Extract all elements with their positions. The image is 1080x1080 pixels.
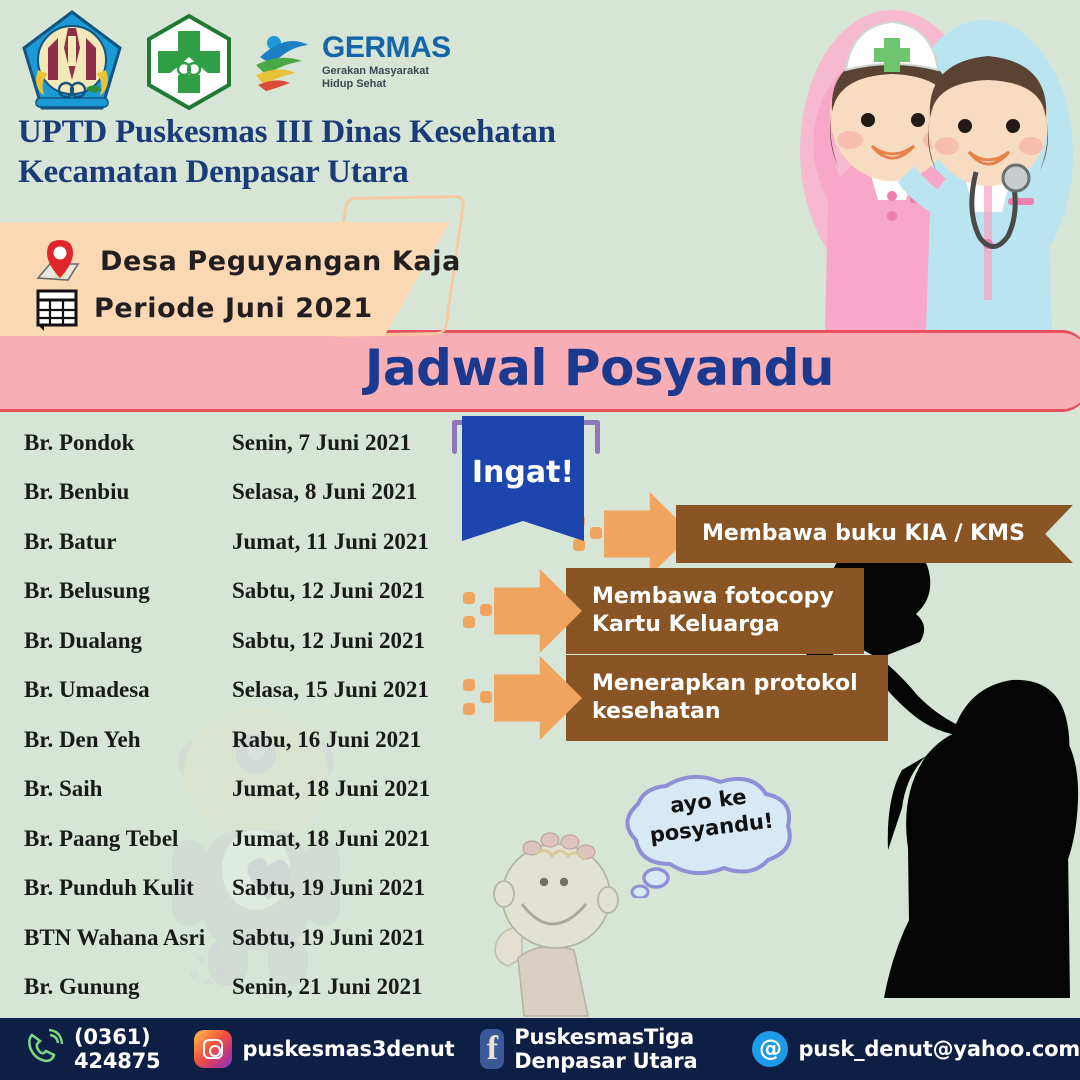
schedule-row: BTN Wahana Asri Sabtu, 19 Juni 2021 <box>0 913 450 963</box>
schedule-place: Br. Benbiu <box>0 479 232 505</box>
schedule-place: Br. Batur <box>0 529 232 555</box>
phone-contact[interactable]: (0361) 424875 <box>24 1025 160 1073</box>
schedule-place: Br. Belusung <box>0 578 232 604</box>
schedule-date: Sabtu, 19 Juni 2021 <box>232 875 425 901</box>
schedule-row: Br. Benbiu Selasa, 8 Juni 2021 <box>0 468 450 518</box>
organization-title: UPTD Puskesmas III Dinas Kesehatan Kecam… <box>18 112 556 193</box>
phone-icon <box>24 1027 64 1072</box>
schedule-row: Br. Pondok Senin, 7 Juni 2021 <box>0 418 450 468</box>
schedule-date: Jumat, 18 Juni 2021 <box>232 776 430 802</box>
reminder-text-3-line-1: Menerapkan protokol <box>592 670 858 698</box>
period-label: Periode Juni 2021 <box>94 293 373 324</box>
map-pin-icon <box>34 238 86 284</box>
schedule-date: Sabtu, 12 Juni 2021 <box>232 578 425 604</box>
org-title-line-2: Kecamatan Denpasar Utara <box>18 152 556 192</box>
germas-logo: GERMAS Gerakan Masyarakat Hidup Sehat <box>252 31 451 93</box>
schedule-date: Sabtu, 19 Juni 2021 <box>232 925 425 951</box>
schedule-place: Br. Paang Tebel <box>0 826 232 852</box>
schedule-date: Rabu, 16 Juni 2021 <box>232 727 421 753</box>
reminder-item-1: Membawa buku KIA / KMS <box>572 492 1073 576</box>
poster-root: GERMAS Gerakan Masyarakat Hidup Sehat UP… <box>0 0 1080 1080</box>
schedule-place: Br. Gunung <box>0 974 232 1000</box>
email-contact[interactable]: @ pusk_denut@yahoo.com <box>752 1031 1080 1067</box>
email-address: pusk_denut@yahoo.com <box>798 1037 1080 1061</box>
reminder-text-1: Membawa buku KIA / KMS <box>676 505 1073 563</box>
facebook-contact[interactable]: f PuskesmasTiga Denpasar Utara <box>480 1025 734 1073</box>
schedule-date: Selasa, 15 Juni 2021 <box>232 677 429 703</box>
schedule-place: Br. Saih <box>0 776 232 802</box>
schedule-row: Br. Belusung Sabtu, 12 Juni 2021 <box>0 567 450 617</box>
health-cross-logo <box>140 13 238 111</box>
instagram-handle: puskesmas3denut <box>242 1037 454 1061</box>
reminder-text-2-line-1: Membawa fotocopy <box>592 583 834 611</box>
schedule-list: Br. Pondok Senin, 7 Juni 2021 Br. Benbiu… <box>0 418 450 1012</box>
at-icon: @ <box>752 1031 788 1067</box>
logo-row: GERMAS Gerakan Masyarakat Hidup Sehat <box>18 8 451 116</box>
schedule-row: Br. Paang Tebel Jumat, 18 Juni 2021 <box>0 814 450 864</box>
schedule-date: Senin, 7 Juni 2021 <box>232 430 411 456</box>
phone-number: (0361) 424875 <box>74 1025 160 1073</box>
arrow-dots-icon <box>462 588 496 634</box>
germas-tagline-1: Gerakan Masyarakat <box>322 65 451 78</box>
reminder-text-3: Menerapkan protokol kesehatan <box>566 655 888 741</box>
bali-emblem-logo <box>18 8 126 116</box>
schedule-date: Jumat, 18 Juni 2021 <box>232 826 430 852</box>
schedule-row: Br. Gunung Senin, 21 Juni 2021 <box>0 963 450 1013</box>
schedule-place: Br. Punduh Kulit <box>0 875 232 901</box>
instagram-contact[interactable]: puskesmas3denut <box>194 1030 454 1068</box>
schedule-place: Br. Pondok <box>0 430 232 456</box>
org-title-line-1: UPTD Puskesmas III Dinas Kesehatan <box>18 112 556 152</box>
schedule-row: Br. Umadesa Selasa, 15 Juni 2021 <box>0 666 450 716</box>
reminder-item-3: Menerapkan protokol kesehatan <box>462 655 888 741</box>
facebook-icon: f <box>480 1029 504 1069</box>
arrow-dots-icon <box>462 675 496 721</box>
germas-name: GERMAS <box>322 33 451 63</box>
schedule-row: Br. Den Yeh Rabu, 16 Juni 2021 <box>0 715 450 765</box>
germas-tagline-2: Hidup Sehat <box>322 78 451 91</box>
reminder-text-2: Membawa fotocopy Kartu Keluarga <box>566 568 864 654</box>
instagram-icon <box>194 1030 232 1068</box>
location-label: Desa Peguyangan Kaja <box>100 246 461 277</box>
calendar-icon <box>34 285 80 331</box>
germas-mark-icon <box>252 31 314 93</box>
schedule-place: Br. Dualang <box>0 628 232 654</box>
schedule-place: Br. Den Yeh <box>0 727 232 753</box>
schedule-row: Br. Batur Jumat, 11 Juni 2021 <box>0 517 450 567</box>
location-row: Desa Peguyangan Kaja <box>34 238 461 284</box>
reminder-text-2-line-2: Kartu Keluarga <box>592 611 834 639</box>
schedule-date: Jumat, 11 Juni 2021 <box>232 529 429 555</box>
reminder-text-3-line-2: kesehatan <box>592 698 858 726</box>
period-row: Periode Juni 2021 <box>34 285 373 331</box>
page-title: Jadwal Posyandu <box>365 339 834 397</box>
schedule-row: Br. Punduh Kulit Sabtu, 19 Juni 2021 <box>0 864 450 914</box>
schedule-row: Br. Saih Jumat, 18 Juni 2021 <box>0 765 450 815</box>
reminder-item-2: Membawa fotocopy Kartu Keluarga <box>462 568 864 654</box>
reminder-pennant-label: Ingat! <box>462 455 584 490</box>
nurses-illustration <box>780 0 1080 330</box>
schedule-date: Sabtu, 12 Juni 2021 <box>232 628 425 654</box>
contact-footer: (0361) 424875 puskesmas3denut f Puskesma… <box>0 1018 1080 1080</box>
facebook-page: PuskesmasTiga Denpasar Utara <box>514 1025 734 1073</box>
schedule-row: Br. Dualang Sabtu, 12 Juni 2021 <box>0 616 450 666</box>
schedule-place: Br. Umadesa <box>0 677 232 703</box>
schedule-date: Senin, 21 Juni 2021 <box>232 974 422 1000</box>
schedule-date: Selasa, 8 Juni 2021 <box>232 479 417 505</box>
schedule-place: BTN Wahana Asri <box>0 925 232 951</box>
